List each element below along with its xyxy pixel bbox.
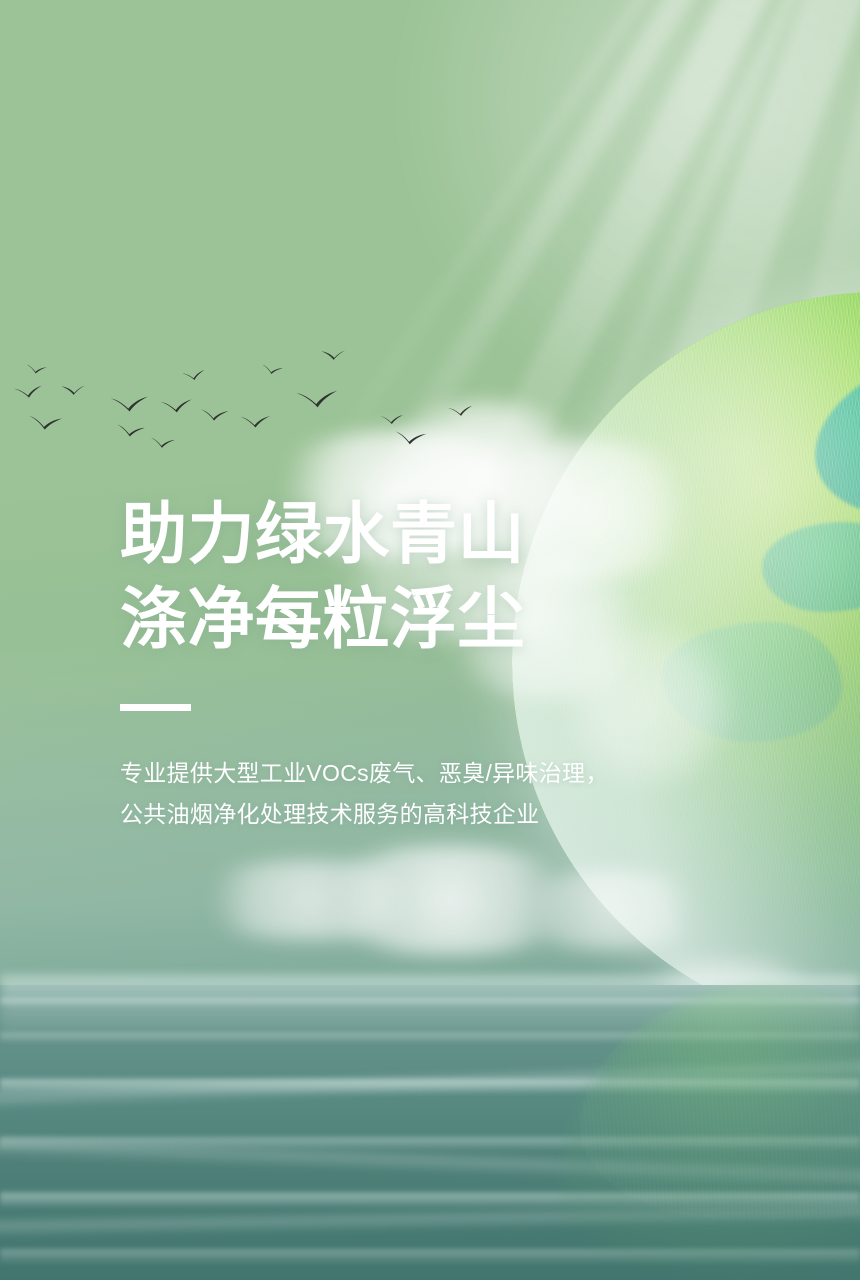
bird-icon [28,414,65,432]
bird-icon [13,383,45,401]
copy-block: 助力绿水青山 涤净每粒浮尘 专业提供大型工业VOCs废气、恶臭/异味治理， 公共… [120,492,680,835]
subtitle-line-2: 公共油烟净化处理技术服务的高科技企业 [120,794,680,835]
bird-icon [380,411,405,424]
bird-icon [150,435,177,449]
bird-icon [60,370,86,410]
water-mist [0,975,860,1045]
bird-icon [261,361,284,374]
bird-icon [159,396,194,415]
bird-icon [181,366,207,381]
bird-icon [115,423,146,440]
divider-rule [120,704,191,711]
subtitle-line-1: 专业提供大型工业VOCs废气、恶臭/异味治理， [120,753,680,794]
bird-icon [394,429,429,447]
bird-icon [25,361,48,374]
bird-icon [200,407,230,422]
bird-icon [240,413,273,430]
bird-icon [447,402,474,417]
subtitle-block: 专业提供大型工业VOCs废气、恶臭/异味治理， 公共油烟净化处理技术服务的高科技… [120,753,680,835]
headline-line-1: 助力绿水青山 [120,492,680,577]
headline-line-2: 涤净每粒浮尘 [120,577,680,662]
bird-flock [0,0,860,520]
bird-icon [295,386,341,412]
promo-banner: 助力绿水青山 涤净每粒浮尘 专业提供大型工业VOCs废气、恶臭/异味治理， 公共… [0,0,860,1280]
bird-icon [320,346,346,364]
bird-icon [109,394,150,415]
